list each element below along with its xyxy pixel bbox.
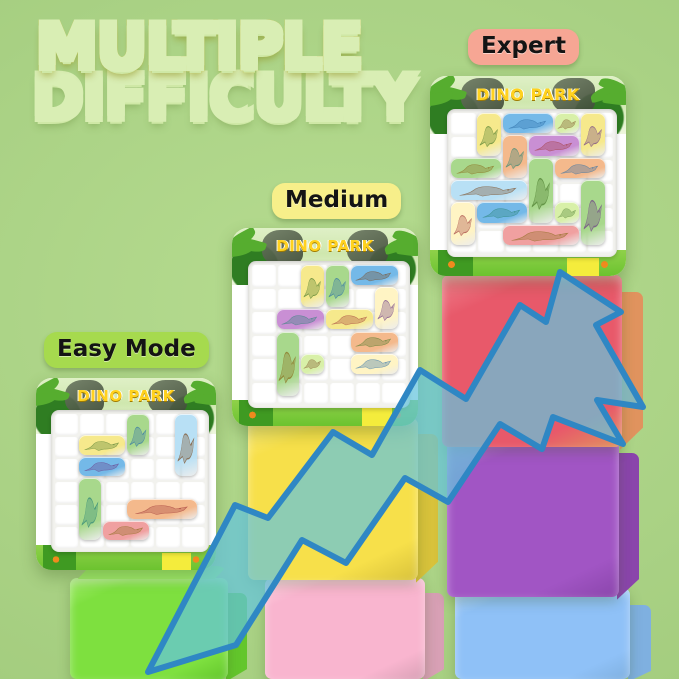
- grid-cell[interactable]: [55, 414, 78, 435]
- grid-cell[interactable]: [382, 383, 406, 405]
- dino-illustration: [303, 271, 322, 301]
- dino-illustration: [354, 268, 394, 283]
- grid-cell[interactable]: [356, 383, 380, 405]
- grid-cell[interactable]: [55, 527, 78, 548]
- dino-illustration: [509, 228, 573, 243]
- dino-illustration: [129, 420, 147, 449]
- grid-cell[interactable]: [451, 137, 476, 159]
- grid-cell[interactable]: [252, 359, 276, 381]
- dino-piece[interactable]: [351, 332, 398, 352]
- game-board-easy[interactable]: DINO PARK: [36, 378, 216, 570]
- dino-illustration: [533, 138, 575, 153]
- dino-illustration: [479, 119, 499, 150]
- board-logo: DINO PARK: [36, 387, 216, 405]
- dino-piece[interactable]: [555, 158, 605, 178]
- block-pink: [265, 578, 425, 679]
- block-front: [442, 275, 622, 447]
- block-side: [628, 605, 651, 679]
- dino-piece[interactable]: [503, 113, 553, 133]
- dino-piece[interactable]: [277, 332, 300, 397]
- dino-piece[interactable]: [477, 202, 527, 222]
- dino-piece[interactable]: [79, 435, 125, 454]
- dino-piece[interactable]: [351, 265, 398, 285]
- game-board-medium[interactable]: DINO PARK: [232, 228, 418, 426]
- dino-piece[interactable]: [555, 113, 579, 133]
- dino-illustration: [83, 438, 122, 452]
- dino-illustration: [81, 487, 99, 532]
- dino-piece[interactable]: [103, 521, 149, 540]
- grid-cell[interactable]: [278, 265, 302, 287]
- grid-cell[interactable]: [80, 414, 103, 435]
- block-side: [416, 434, 438, 583]
- dino-piece[interactable]: [301, 354, 324, 374]
- dino-piece[interactable]: [451, 180, 527, 200]
- dino-illustration: [557, 116, 577, 131]
- difficulty-label-expert: Expert: [468, 29, 579, 65]
- dino-piece[interactable]: [326, 265, 349, 307]
- dino-illustration: [455, 161, 497, 176]
- dino-piece[interactable]: [581, 180, 605, 245]
- dino-piece[interactable]: [555, 202, 579, 222]
- difficulty-label-medium: Medium: [272, 183, 401, 219]
- dino-illustration: [453, 208, 473, 239]
- dino-illustration: [457, 183, 521, 198]
- block-green: [70, 578, 228, 679]
- grid-cell[interactable]: [304, 383, 328, 405]
- dino-piece[interactable]: [581, 113, 605, 156]
- dino-illustration: [83, 459, 122, 473]
- grid-cell[interactable]: [106, 414, 129, 435]
- dino-illustration: [354, 334, 394, 349]
- grid-cell[interactable]: [478, 231, 503, 253]
- block-side: [226, 593, 247, 679]
- block-front: [248, 418, 418, 580]
- dino-illustration: [505, 141, 525, 172]
- game-board-expert[interactable]: DINO PARK: [430, 76, 626, 276]
- grid-cell[interactable]: [278, 289, 302, 311]
- dino-illustration: [583, 189, 603, 236]
- dino-illustration: [354, 356, 394, 371]
- dino-illustration: [531, 167, 551, 214]
- block-blue: [455, 588, 630, 679]
- dino-piece[interactable]: [127, 499, 197, 518]
- dino-piece[interactable]: [451, 158, 501, 178]
- grid-cell[interactable]: [156, 527, 179, 548]
- difficulty-label-easy: Easy Mode: [44, 332, 209, 368]
- grid-cell[interactable]: [252, 312, 276, 334]
- grid-cell[interactable]: [252, 336, 276, 358]
- dino-illustration: [177, 423, 195, 468]
- poster-stage: DINO PARKDINO PARKDINO PARK Easy ModeMed…: [0, 0, 679, 679]
- grid-cell[interactable]: [182, 527, 205, 548]
- title-line-1: MULTIPLE: [36, 18, 456, 75]
- dino-piece[interactable]: [503, 225, 579, 245]
- dino-illustration: [303, 356, 322, 371]
- dino-illustration: [583, 119, 603, 150]
- block-yellow: [248, 418, 418, 580]
- grid-cell[interactable]: [55, 459, 78, 480]
- block-side: [617, 453, 639, 600]
- block-side: [620, 292, 643, 450]
- dino-illustration: [481, 205, 523, 220]
- dino-piece[interactable]: [375, 287, 398, 329]
- dino-illustration: [377, 293, 396, 323]
- dino-piece[interactable]: [477, 113, 501, 156]
- dino-illustration: [507, 116, 549, 131]
- grid-cell[interactable]: [252, 289, 276, 311]
- dino-illustration: [330, 312, 370, 327]
- dino-illustration: [328, 271, 347, 301]
- dino-illustration: [107, 523, 146, 537]
- page-title: MULTIPLE DIFFICULTY: [36, 18, 456, 126]
- block-side: [423, 593, 444, 679]
- dino-piece[interactable]: [451, 202, 475, 245]
- board-logo: DINO PARK: [232, 237, 418, 255]
- dino-piece[interactable]: [529, 158, 553, 223]
- grid-cell[interactable]: [55, 505, 78, 526]
- grid-cell[interactable]: [106, 482, 129, 503]
- board-logo: DINO PARK: [430, 85, 626, 104]
- grid-cell[interactable]: [55, 437, 78, 458]
- block-front: [455, 588, 630, 679]
- dino-piece[interactable]: [175, 414, 197, 476]
- block-front: [265, 578, 425, 679]
- block-red: [442, 275, 622, 447]
- dino-piece[interactable]: [79, 457, 125, 476]
- block-front: [70, 578, 228, 679]
- dino-piece[interactable]: [127, 414, 149, 455]
- grid-cell[interactable]: [330, 383, 354, 405]
- grid-cell[interactable]: [252, 383, 276, 405]
- dino-illustration: [133, 502, 192, 516]
- dino-piece[interactable]: [326, 309, 373, 329]
- dino-piece[interactable]: [351, 354, 398, 374]
- block-purple: [447, 437, 619, 597]
- dino-illustration: [280, 312, 320, 327]
- dino-illustration: [557, 205, 577, 220]
- grid-cell[interactable]: [55, 482, 78, 503]
- block-front: [447, 437, 619, 597]
- dino-piece[interactable]: [503, 135, 527, 178]
- grid-cell[interactable]: [252, 265, 276, 287]
- dino-illustration: [559, 161, 601, 176]
- dino-piece[interactable]: [301, 265, 324, 307]
- dino-illustration: [278, 341, 297, 387]
- grid-cell[interactable]: [131, 459, 154, 480]
- dino-piece[interactable]: [529, 135, 579, 155]
- dino-piece[interactable]: [277, 309, 324, 329]
- dino-piece[interactable]: [79, 478, 101, 540]
